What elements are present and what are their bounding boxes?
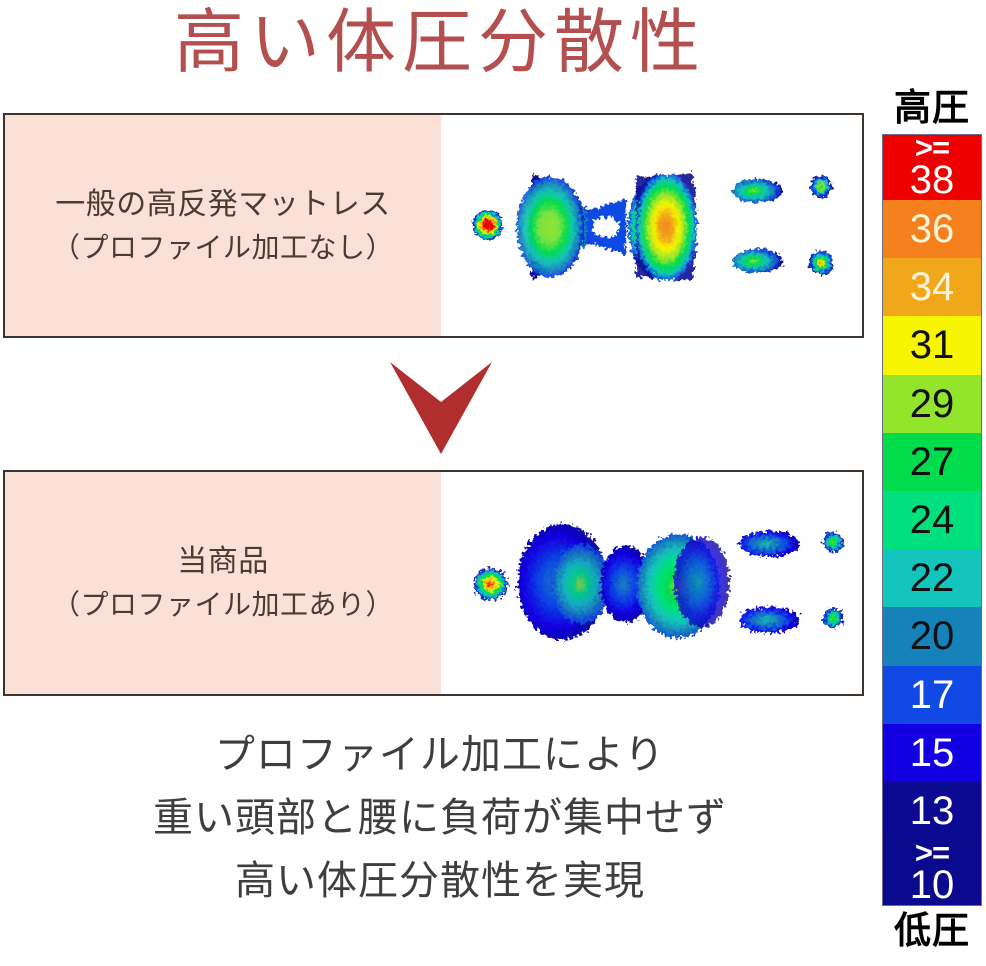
panel-this-product: 当商品 （プロファイル加工あり） bbox=[3, 470, 864, 696]
caption-line-1: プロファイル加工により bbox=[0, 724, 880, 787]
legend-high-pressure-label: 高圧 bbox=[880, 86, 984, 134]
legend-band-17: 17 bbox=[883, 666, 981, 724]
legend-band-value: 13 bbox=[910, 791, 955, 831]
caption-line-3: 高い体圧分散性を実現 bbox=[0, 850, 880, 913]
legend-band-prefix: >= bbox=[915, 135, 949, 160]
panel-conventional-heatmap-area bbox=[441, 115, 862, 336]
legend-band-value: 36 bbox=[910, 209, 955, 249]
legend-band-20: 20 bbox=[883, 607, 981, 665]
legend-low-pressure-label: 低圧 bbox=[880, 906, 984, 957]
caption-line-2: 重い頭部と腰に負荷が集中せず bbox=[0, 787, 880, 850]
legend-band-31: 31 bbox=[883, 316, 981, 374]
legend-band-value: 22 bbox=[910, 558, 955, 598]
legend-band-value: 24 bbox=[910, 500, 955, 540]
panel-this-product-label: 当商品 （プロファイル加工あり） bbox=[5, 472, 441, 694]
legend-band-15: 15 bbox=[883, 724, 981, 782]
page-title: 高い体圧分散性 bbox=[0, 2, 880, 86]
legend-band-36: 36 bbox=[883, 200, 981, 258]
legend-band-value: 15 bbox=[910, 733, 955, 773]
panel-conventional-label-line2: （プロファイル加工なし） bbox=[52, 227, 394, 269]
legend-band-value: 17 bbox=[910, 675, 955, 715]
legend-band-10: >=10 bbox=[883, 840, 981, 905]
legend-band-22: 22 bbox=[883, 549, 981, 607]
panel-conventional-label: 一般の高反発マットレス （プロファイル加工なし） bbox=[5, 115, 441, 336]
legend-band-prefix: >= bbox=[915, 840, 949, 865]
panel-conventional-label-line1: 一般の高反発マットレス bbox=[55, 183, 391, 227]
pressure-colorbar-legend: 高圧 >=383634312927242220171513>=10 低圧 bbox=[880, 86, 984, 954]
legend-band-34: 34 bbox=[883, 258, 981, 316]
legend-band-27: 27 bbox=[883, 433, 981, 491]
legend-band-value: 38 bbox=[910, 160, 955, 200]
legend-band-value: 31 bbox=[910, 325, 955, 365]
legend-band-value: 10 bbox=[910, 865, 955, 905]
pressure-heatmap-conventional bbox=[441, 115, 862, 336]
legend-band-value: 20 bbox=[910, 616, 955, 656]
panel-conventional-mattress: 一般の高反発マットレス （プロファイル加工なし） bbox=[3, 113, 864, 338]
legend-band-value: 34 bbox=[910, 267, 955, 307]
pressure-heatmap-this-product bbox=[441, 472, 862, 694]
legend-band-29: 29 bbox=[883, 375, 981, 433]
down-chevron-arrow bbox=[386, 358, 496, 458]
legend-band-value: 29 bbox=[910, 384, 955, 424]
legend-band-value: 27 bbox=[910, 442, 955, 482]
panel-this-product-label-line1: 当商品 bbox=[177, 540, 269, 584]
legend-band-13: 13 bbox=[883, 782, 981, 840]
panel-this-product-label-line2: （プロファイル加工あり） bbox=[52, 584, 394, 626]
panel-this-product-heatmap-area bbox=[441, 472, 862, 694]
legend-color-bands: >=383634312927242220171513>=10 bbox=[882, 134, 982, 906]
legend-band-24: 24 bbox=[883, 491, 981, 549]
legend-band-38: >=38 bbox=[883, 135, 981, 200]
caption-block: プロファイル加工により 重い頭部と腰に負荷が集中せず 高い体圧分散性を実現 bbox=[0, 724, 880, 913]
